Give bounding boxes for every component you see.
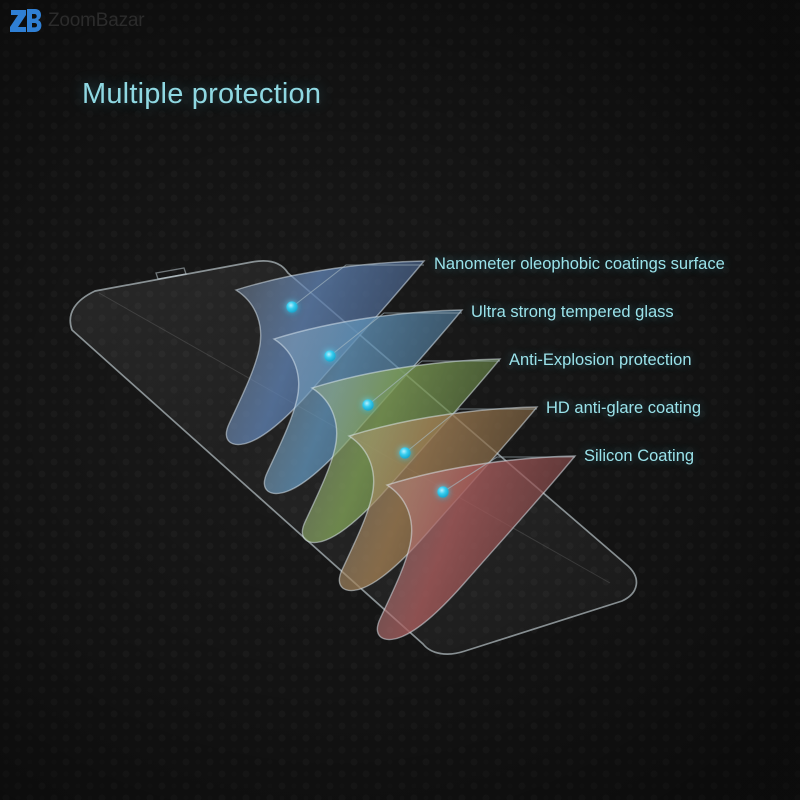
layer-marker-3 <box>362 399 373 410</box>
layer-marker-4 <box>399 447 410 458</box>
page-title: Multiple protection <box>82 78 321 111</box>
layer-label-1: Nanometer oleophobic coatings surface <box>434 255 725 274</box>
layer-label-5: Silicon Coating <box>584 447 694 466</box>
layer-marker-1 <box>286 301 297 312</box>
brand-logo[interactable]: ZoomBazar <box>8 6 144 36</box>
layer-marker-2 <box>324 350 335 361</box>
product-infographic: Nanometer oleophobic coatings surface Ul… <box>0 0 800 800</box>
brand-wordmark: ZoomBazar <box>48 10 144 32</box>
layer-marker-5 <box>437 486 448 497</box>
zoombazar-logo-icon <box>8 6 42 36</box>
layer-label-3: Anti-Explosion protection <box>509 351 692 370</box>
layer-label-2: Ultra strong tempered glass <box>471 303 674 322</box>
layer-label-4: HD anti-glare coating <box>546 399 701 418</box>
